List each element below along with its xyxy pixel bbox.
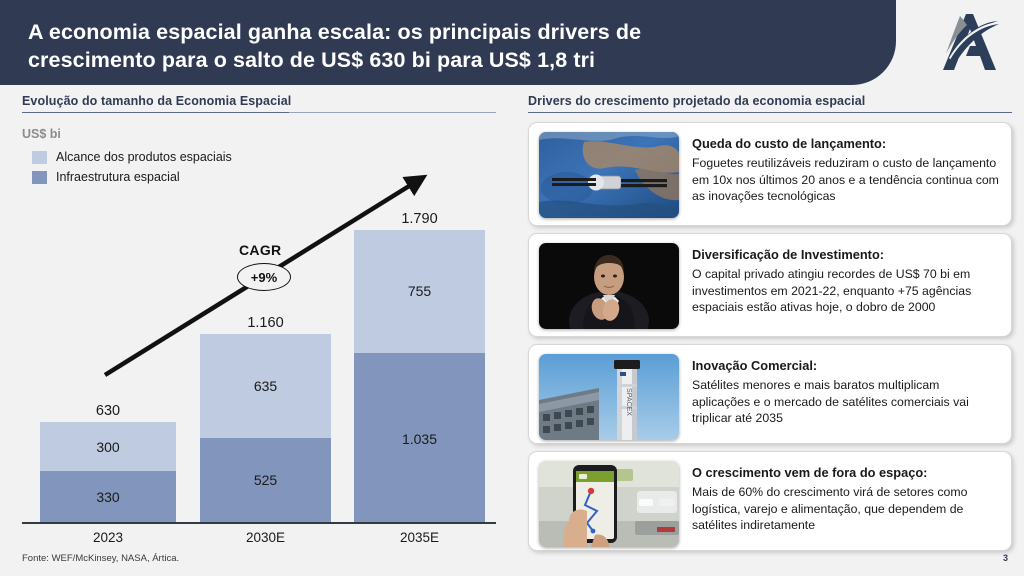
driver-card-4[interactable]: O crescimento vem de fora do espaço: Mai…: [528, 451, 1012, 551]
card-title: O crescimento vem de fora do espaço:: [692, 465, 999, 480]
card-body: Diversificação de Investimento: O capita…: [692, 243, 999, 316]
legend-label: Alcance dos produtos espaciais: [56, 150, 232, 164]
x-axis-label: 2023: [40, 530, 176, 545]
bar-segment-label: 635: [200, 379, 331, 393]
driver-card-3[interactable]: SPACEX Inovação Comercial: Satélites men…: [528, 344, 1012, 444]
chart-legend: Alcance dos produtos espaciais Infraestr…: [32, 147, 232, 187]
card-body: Queda do custo de lançamento: Foguetes r…: [692, 132, 999, 205]
chart-unit-label: US$ bi: [22, 127, 61, 141]
card-text: O capital privado atingiu recordes de US…: [692, 266, 999, 316]
cagr-label: CAGR: [239, 242, 281, 258]
driver-card-2[interactable]: Diversificação de Investimento: O capita…: [528, 233, 1012, 337]
title-line-2: crescimento para o salto de US$ 630 bi p…: [28, 46, 858, 74]
bar-segment-label: 755: [354, 284, 485, 298]
investor-portrait-photo: [539, 243, 679, 329]
left-section-rule-accent: [22, 112, 289, 113]
left-section-rule: [289, 112, 496, 113]
card-text: Satélites menores e mais baratos multipl…: [692, 377, 999, 427]
card-body: Inovação Comercial: Satélites menores e …: [692, 354, 999, 427]
svg-text:SPACEX: SPACEX: [625, 388, 632, 416]
legend-swatch-icon: [32, 171, 47, 184]
x-axis-label: 2030E: [200, 530, 331, 545]
card-title: Queda do custo de lançamento:: [692, 136, 999, 151]
x-axis-label: 2035E: [354, 530, 485, 545]
cagr-value-badge: +9%: [237, 263, 291, 291]
card-text: Foguetes reutilizáveis reduziram o custo…: [692, 155, 999, 205]
card-title: Inovação Comercial:: [692, 358, 999, 373]
bar-segment-label: 330: [40, 490, 176, 504]
rocket-booster-photo: SPACEX: [539, 354, 679, 440]
legend-item-alcance: Alcance dos produtos espaciais: [32, 147, 232, 167]
page-title: A economia espacial ganha escala: os pri…: [28, 18, 858, 74]
slide: A economia espacial ganha escala: os pri…: [0, 0, 1024, 576]
bar-total-label: 1.160: [200, 315, 331, 331]
card-text: Mais de 60% do crescimento virá de setor…: [692, 484, 999, 534]
bar-total-label: 1.790: [354, 211, 485, 227]
smartphone-navigation-photo: [539, 461, 679, 547]
right-section-title: Drivers do crescimento projetado da econ…: [528, 94, 865, 108]
legend-swatch-icon: [32, 151, 47, 164]
chart-axis-line: [22, 522, 496, 524]
right-section-rule: [528, 112, 1012, 113]
legend-label: Infraestrutura espacial: [56, 170, 180, 184]
source-note: Fonte: WEF/McKinsey, NASA, Ártica.: [22, 553, 179, 564]
legend-item-infraestrutura: Infraestrutura espacial: [32, 167, 232, 187]
satellite-over-earth-photo: [539, 132, 679, 218]
bar-total-label: 630: [40, 403, 176, 419]
card-title: Diversificação de Investimento:: [692, 247, 999, 262]
card-body: O crescimento vem de fora do espaço: Mai…: [692, 461, 999, 534]
artica-logo: [926, 8, 1002, 80]
page-number: 3: [1003, 553, 1008, 563]
title-line-1: A economia espacial ganha escala: os pri…: [28, 18, 858, 46]
bar-segment-label: 525: [200, 473, 331, 487]
driver-card-1[interactable]: Queda do custo de lançamento: Foguetes r…: [528, 122, 1012, 226]
bar-segment-label: 300: [40, 440, 176, 454]
bar-segment-label: 1.035: [354, 432, 485, 446]
left-section-title: Evolução do tamanho da Economia Espacial: [22, 94, 291, 108]
